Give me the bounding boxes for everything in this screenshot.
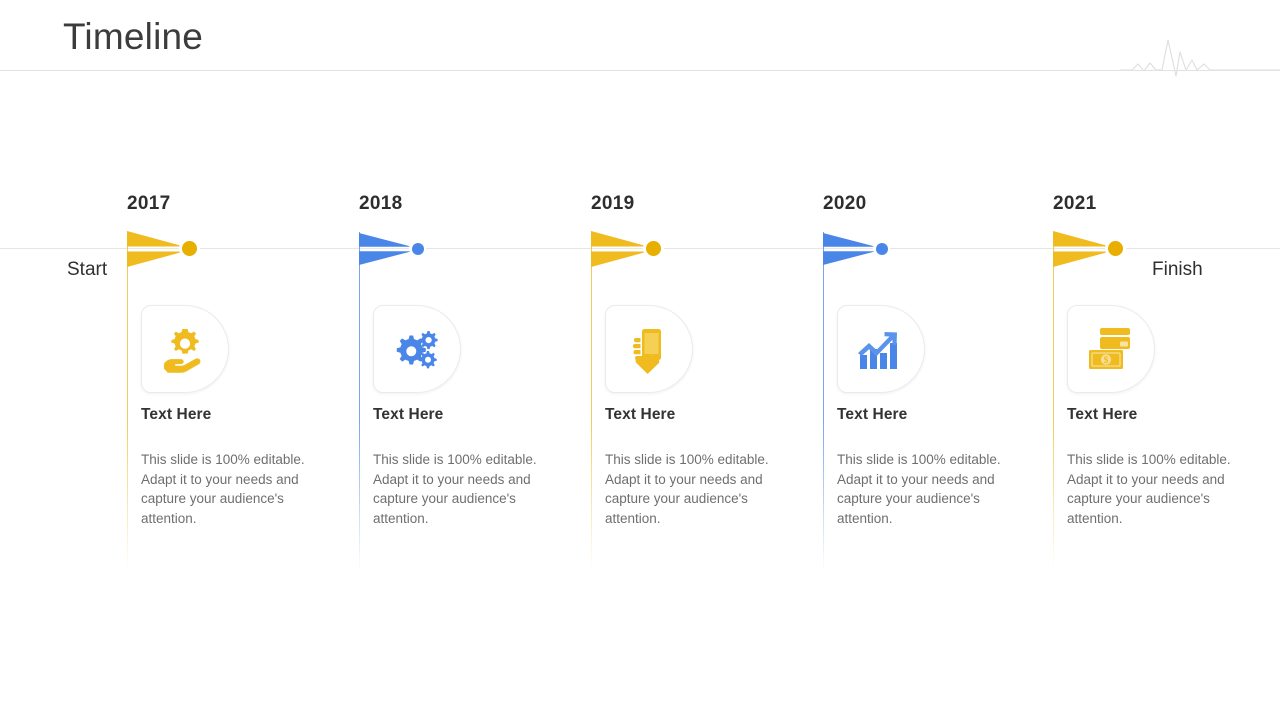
milestone-pole xyxy=(823,232,824,572)
svg-text:$: $ xyxy=(1104,355,1109,366)
milestone-year: 2020 xyxy=(823,193,866,215)
hand-holding-smartphone-icon[interactable] xyxy=(605,305,693,393)
gears-icon[interactable] xyxy=(373,305,461,393)
start-label: Start xyxy=(67,259,107,281)
milestone-pole xyxy=(359,232,360,572)
milestone-heading: Text Here xyxy=(837,406,907,424)
milestone-2017[interactable]: 2017 Text Here This slide is 100% editab… xyxy=(127,0,359,720)
milestone-year: 2017 xyxy=(127,193,170,215)
milestone-heading: Text Here xyxy=(605,406,675,424)
milestone-year: 2021 xyxy=(1053,193,1096,215)
milestone-dot xyxy=(179,238,200,259)
milestone-dot xyxy=(643,238,664,259)
milestone-2021[interactable]: 2021 $ Text Here This slide is 100% edit… xyxy=(1053,0,1280,720)
milestone-dot xyxy=(873,240,890,257)
milestone-body: This slide is 100% editable. Adapt it to… xyxy=(605,450,773,528)
milestone-body: This slide is 100% editable. Adapt it to… xyxy=(1067,450,1235,528)
milestone-dot xyxy=(409,240,426,257)
milestone-body: This slide is 100% editable. Adapt it to… xyxy=(837,450,1005,528)
hand-holding-gear-icon[interactable] xyxy=(141,305,229,393)
milestone-pole xyxy=(591,232,592,572)
milestone-year: 2018 xyxy=(359,193,402,215)
milestone-body: This slide is 100% editable. Adapt it to… xyxy=(141,450,309,528)
milestone-year: 2019 xyxy=(591,193,634,215)
finish-label: Finish xyxy=(1152,259,1203,281)
milestone-heading: Text Here xyxy=(141,406,211,424)
milestone-2019[interactable]: 2019 Text Here This slide is 100% editab… xyxy=(591,0,823,720)
credit-card-money-icon[interactable]: $ xyxy=(1067,305,1155,393)
milestone-dot xyxy=(1105,238,1126,259)
milestone-heading: Text Here xyxy=(1067,406,1137,424)
milestone-2020[interactable]: 2020 Text Here This slide is 100% editab… xyxy=(823,0,1055,720)
milestone-pole xyxy=(1053,232,1054,572)
milestone-pole xyxy=(127,232,128,572)
milestone-body: This slide is 100% editable. Adapt it to… xyxy=(373,450,541,528)
milestone-heading: Text Here xyxy=(373,406,443,424)
milestone-2018[interactable]: 2018 Text Here This slide is 100% editab… xyxy=(359,0,591,720)
growth-chart-icon[interactable] xyxy=(837,305,925,393)
